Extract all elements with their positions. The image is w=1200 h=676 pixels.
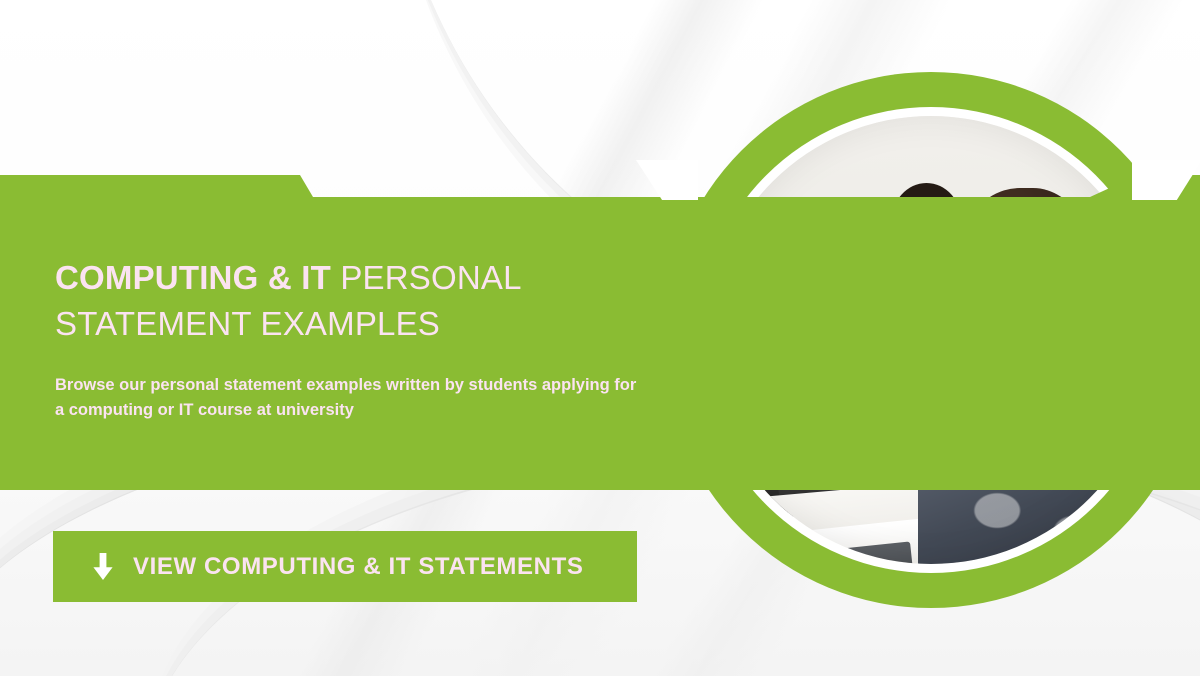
ring-notch-left [636,160,698,200]
view-statements-button-label: VIEW COMPUTING & IT STATEMENTS [133,553,583,581]
banner-content: COMPUTING & IT PERSONAL STATEMENT EXAMPL… [55,255,655,423]
page-title: COMPUTING & IT PERSONAL STATEMENT EXAMPL… [55,255,655,347]
promo-banner: COMPUTING & IT PERSONAL STATEMENT EXAMPL… [0,0,1200,676]
arrow-down-icon [91,553,115,581]
page-title-strong: COMPUTING & IT [55,259,331,296]
view-statements-button[interactable]: VIEW COMPUTING & IT STATEMENTS [53,531,637,602]
banner-subtitle: Browse our personal statement examples w… [55,373,645,423]
